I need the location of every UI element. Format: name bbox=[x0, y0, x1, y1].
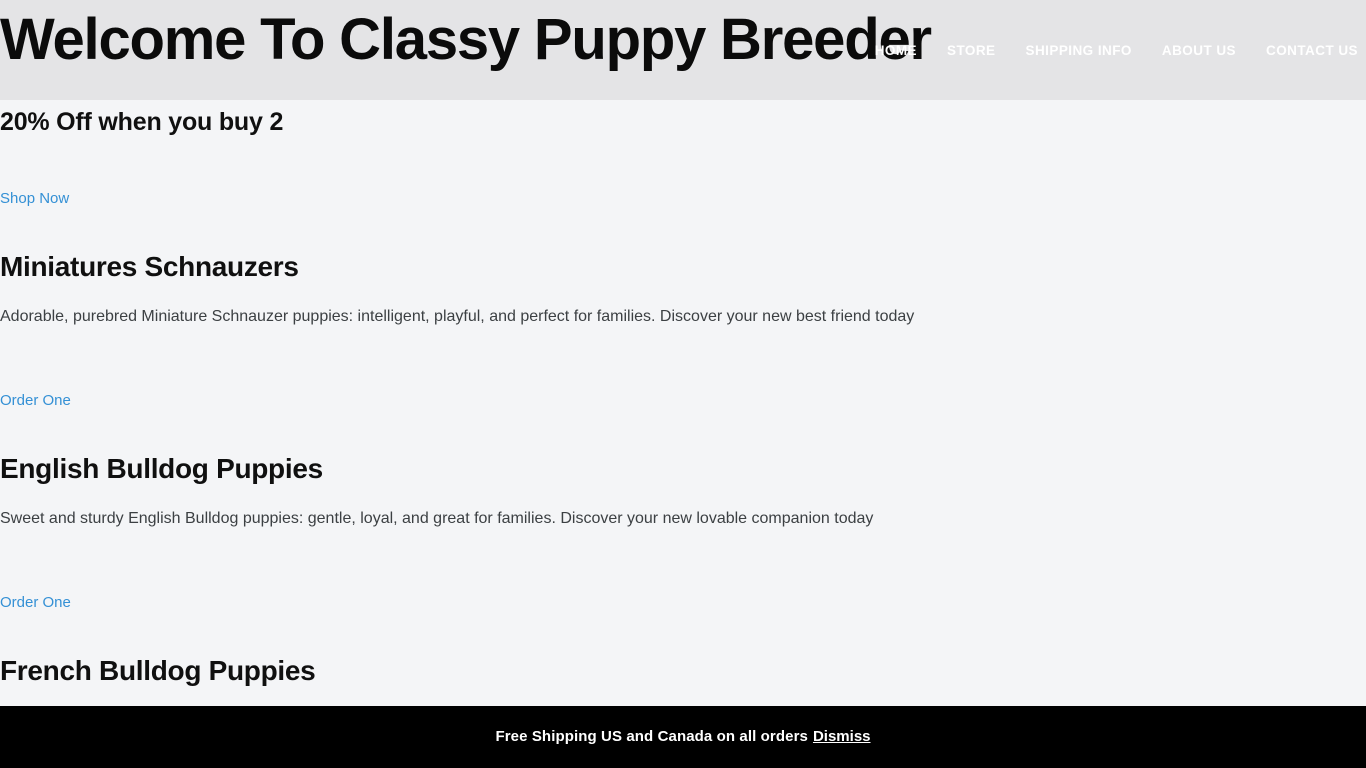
page-title: Welcome To Classy Puppy Breeder bbox=[0, 4, 931, 76]
product-description: Adorable, purebred Miniature Schnauzer p… bbox=[0, 285, 1366, 328]
main-content: 20% Off when you buy 2 Shop Now Miniatur… bbox=[0, 100, 1366, 689]
product-section-english-bulldog: English Bulldog Puppies Sweet and sturdy… bbox=[0, 451, 1366, 613]
shop-now-link[interactable]: Shop Now bbox=[0, 190, 69, 207]
nav-item-shipping-info[interactable]: SHIPPING INFO bbox=[1026, 43, 1132, 59]
main-navigation: HOME STORE SHIPPING INFO ABOUT US CONTAC… bbox=[875, 43, 1358, 59]
product-heading: Miniatures Schnauzers bbox=[0, 249, 1366, 285]
product-heading: English Bulldog Puppies bbox=[0, 451, 1366, 487]
order-one-link-english-bulldog[interactable]: Order One bbox=[0, 594, 71, 611]
product-heading: French Bulldog Puppies bbox=[0, 653, 1366, 689]
nav-item-contact-us[interactable]: CONTACT US bbox=[1266, 43, 1358, 59]
site-header: Welcome To Classy Puppy Breeder HOME STO… bbox=[0, 0, 1366, 100]
shipping-notice-text: Free Shipping US and Canada on all order… bbox=[495, 727, 808, 747]
promo-cta-wrapper: Shop Now bbox=[0, 189, 1366, 209]
nav-item-home[interactable]: HOME bbox=[875, 43, 917, 59]
product-cta-wrapper: Order One bbox=[0, 593, 1366, 613]
order-one-link-schnauzers[interactable]: Order One bbox=[0, 392, 71, 409]
shipping-notice-bar: Free Shipping US and Canada on all order… bbox=[0, 706, 1366, 768]
nav-item-about-us[interactable]: ABOUT US bbox=[1162, 43, 1236, 59]
product-section-french-bulldog: French Bulldog Puppies bbox=[0, 653, 1366, 689]
product-cta-wrapper: Order One bbox=[0, 391, 1366, 411]
nav-item-store[interactable]: STORE bbox=[947, 43, 996, 59]
promo-heading: 20% Off when you buy 2 bbox=[0, 105, 1366, 139]
product-description: Sweet and sturdy English Bulldog puppies… bbox=[0, 487, 1366, 530]
product-section-schnauzers: Miniatures Schnauzers Adorable, purebred… bbox=[0, 249, 1366, 411]
dismiss-notice-link[interactable]: Dismiss bbox=[813, 727, 871, 747]
promo-section: 20% Off when you buy 2 Shop Now bbox=[0, 100, 1366, 209]
